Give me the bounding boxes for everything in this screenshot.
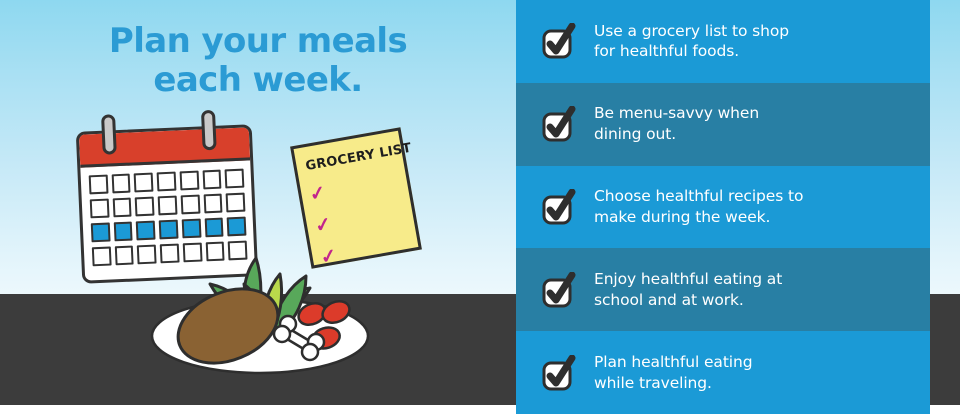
calendar-day-cell <box>90 199 110 219</box>
plate-of-food-illustration <box>140 250 380 380</box>
checkbox-checked-icon <box>540 106 576 142</box>
plate-of-food-svg <box>140 250 380 380</box>
grocery-list-item-lines <box>325 171 399 188</box>
calendar-day-cell-highlighted <box>113 222 133 242</box>
calendar-day-cell-highlighted <box>159 220 179 240</box>
tip-row-3[interactable]: Choose healthful recipes to make during … <box>516 166 930 249</box>
tip-text-1: Use a grocery list to shop for healthful… <box>594 21 789 63</box>
calendar-day-cell-highlighted <box>182 219 202 239</box>
calendar-day-cell <box>179 171 199 191</box>
grocery-list-item-lines <box>336 234 410 251</box>
page-title-line-1: Plan your meals <box>109 21 407 61</box>
page-title: Plan your meals each week. <box>24 22 492 100</box>
calendar-day-cell <box>157 172 177 192</box>
tip-text-line: Enjoy healthful eating at <box>594 269 782 290</box>
calendar-ring-right <box>201 110 217 151</box>
tip-text-line: for healthful foods. <box>594 41 789 62</box>
calendar-day-cell <box>225 169 245 189</box>
calendar-day-cell <box>135 197 155 217</box>
grocery-list-note: GROCERY LIST ✓ ✓ ✓ <box>290 127 422 269</box>
tip-text-line: make during the week. <box>594 207 803 228</box>
tips-panel: Use a grocery list to shop for healthful… <box>516 0 930 414</box>
checkbox-checked-icon <box>540 355 576 391</box>
calendar-day-cell <box>111 174 131 194</box>
calendar-day-cell <box>226 193 246 213</box>
tip-text-2: Be menu-savvy when dining out. <box>594 103 759 145</box>
calendar-day-cell-highlighted <box>204 218 224 238</box>
checkbox-checked-icon <box>540 189 576 225</box>
tip-text-5: Plan healthful eating while traveling. <box>594 352 752 394</box>
tip-row-5[interactable]: Plan healthful eating while traveling. <box>516 331 930 414</box>
calendar-day-cell <box>112 198 132 218</box>
calendar-day-cell <box>114 246 134 266</box>
calendar-day-cell <box>180 195 200 215</box>
calendar-day-cell <box>89 175 109 195</box>
calendar-day-cell <box>203 194 223 214</box>
calendar-ring-left <box>101 114 117 155</box>
grocery-list-item: ✓ <box>308 171 401 208</box>
grocery-list-title: GROCERY LIST <box>305 141 413 174</box>
tip-text-line: Be menu-savvy when <box>594 103 759 124</box>
calendar-day-cell <box>92 247 112 267</box>
checkbox-checked-icon <box>540 272 576 308</box>
calendar-day-cell <box>158 196 178 216</box>
illustration-panel: Plan your meals each week. <box>0 0 516 414</box>
tip-text-line: Use a grocery list to shop <box>594 21 789 42</box>
infographic-root: Plan your meals each week. <box>0 0 960 414</box>
calendar-day-cell <box>134 173 154 193</box>
grocery-list-item: ✓ <box>314 203 407 240</box>
tip-text-line: school and at work. <box>594 290 782 311</box>
calendar-day-cell-highlighted <box>91 223 111 243</box>
page-title-line-2: each week. <box>24 61 492 100</box>
checkbox-checked-icon <box>540 23 576 59</box>
tip-text-line: while traveling. <box>594 373 752 394</box>
tip-text-line: Choose healthful recipes to <box>594 186 803 207</box>
tip-row-4[interactable]: Enjoy healthful eating at school and at … <box>516 248 930 331</box>
calendar-day-cell-highlighted <box>136 221 156 241</box>
calendar-day-cell <box>202 170 222 190</box>
calendar-day-cell-highlighted <box>227 217 247 237</box>
tip-text-3: Choose healthful recipes to make during … <box>594 186 803 228</box>
tip-text-line: dining out. <box>594 124 759 145</box>
tip-row-1[interactable]: Use a grocery list to shop for healthful… <box>516 0 930 83</box>
tip-text-line: Plan healthful eating <box>594 352 752 373</box>
tip-row-2[interactable]: Be menu-savvy when dining out. <box>516 83 930 166</box>
grocery-list-item-lines <box>331 203 405 220</box>
tip-text-4: Enjoy healthful eating at school and at … <box>594 269 782 311</box>
